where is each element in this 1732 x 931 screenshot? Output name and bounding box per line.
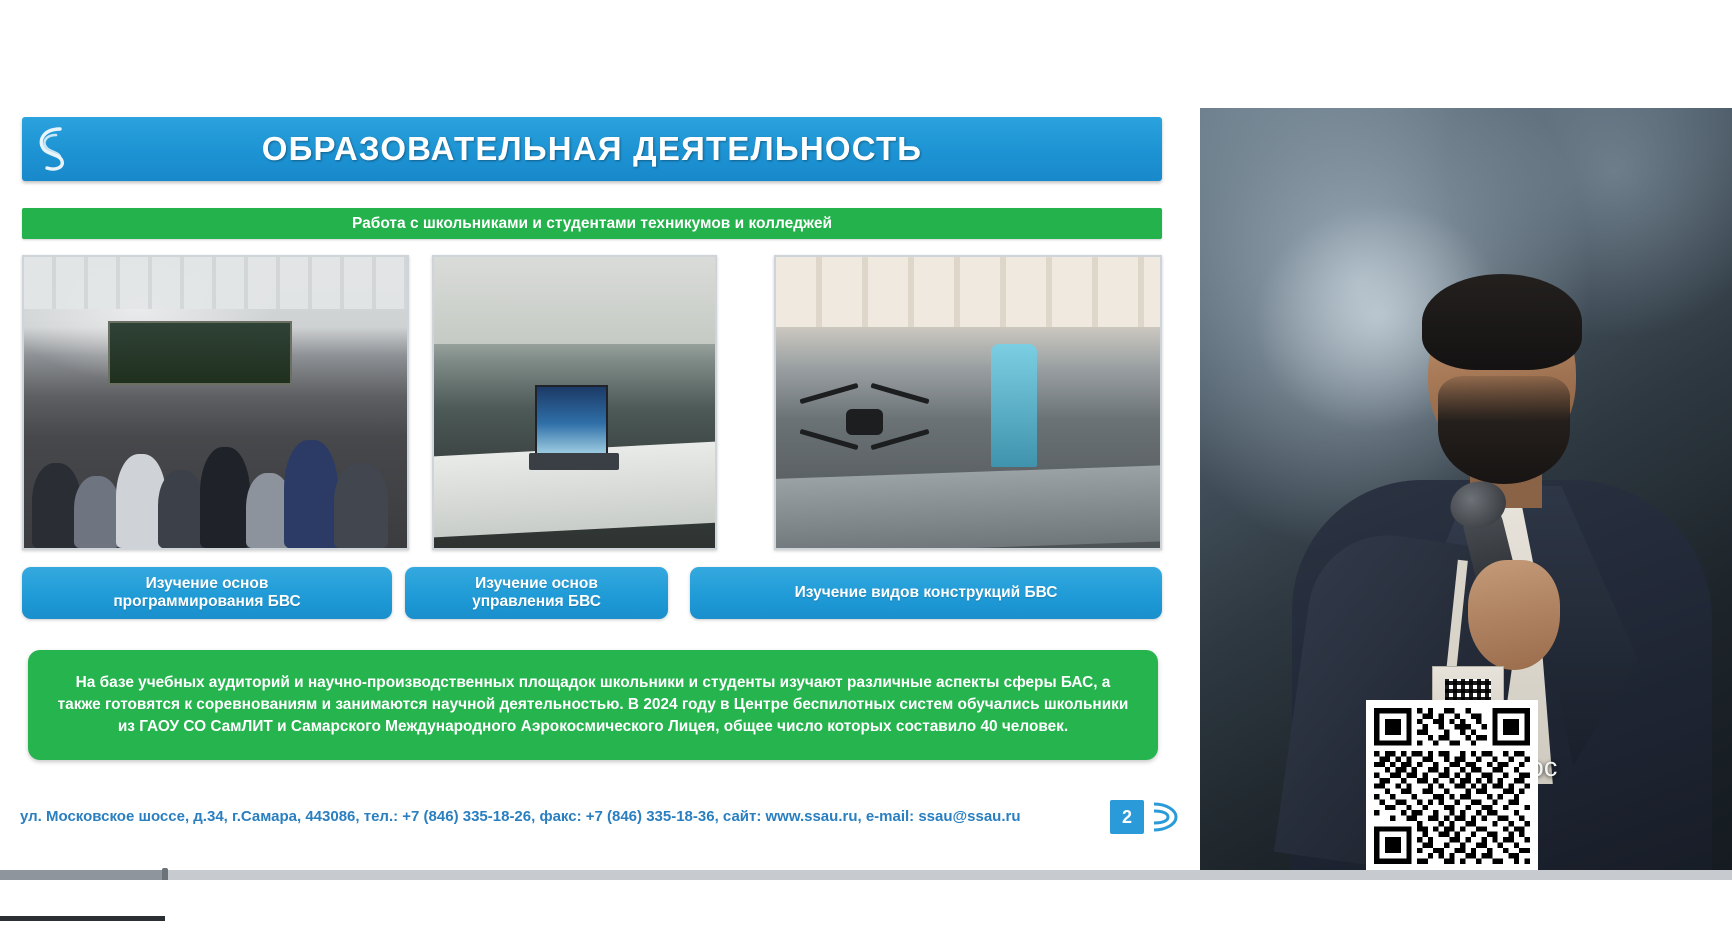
caption-text: Изучение видов конструкций БВС <box>795 584 1058 602</box>
caption-box-control: Изучение основ управления БВС <box>405 567 668 619</box>
photo-classroom-lecture <box>22 255 409 550</box>
slide-footer-contacts: ул. Московское шоссе, д.34, г.Самара, 44… <box>20 808 1021 825</box>
caption-text: Изучение основ программирования БВС <box>113 575 300 612</box>
ask-speaker-qr-code[interactable] <box>1366 700 1538 872</box>
photo-row <box>22 255 1162 550</box>
slide-subtitle: Работа с школьниками и студентами техник… <box>352 215 832 233</box>
photo-students-laptop-drone-controller <box>432 255 717 550</box>
speaker-beard <box>1438 376 1570 484</box>
screen-root: ОБРАЗОВАТЕЛЬНАЯ ДЕЯТЕЛЬНОСТЬ Работа с шк… <box>0 0 1732 931</box>
slide-body-text: На базе учебных аудиторий и научно-произ… <box>54 672 1132 739</box>
ssau-swirl-logo-icon <box>30 124 76 174</box>
speaker-hair <box>1422 274 1582 370</box>
drone-shape <box>799 373 930 472</box>
slide-body-box: На базе учебных аудиторий и научно-произ… <box>28 650 1158 760</box>
slide-title-bar: ОБРАЗОВАТЕЛЬНАЯ ДЕЯТЕЛЬНОСТЬ <box>22 117 1162 181</box>
ssau-swirl-icon <box>1148 800 1182 834</box>
slide-subtitle-bar: Работа с школьниками и студентами техник… <box>22 208 1162 239</box>
slide-page-number: 2 <box>1110 800 1144 834</box>
caption-box-programming: Изучение основ программирования БВС <box>22 567 392 619</box>
caption-text: Изучение основ управления БВС <box>472 575 601 612</box>
video-player-bar <box>0 870 1732 931</box>
player-controls-area <box>0 880 1732 931</box>
buffered-range <box>0 870 1732 880</box>
playback-progress-line <box>0 916 165 921</box>
speaker-hand <box>1468 560 1560 670</box>
presentation-slide: ОБРАЗОВАТЕЛЬНАЯ ДЕЯТЕЛЬНОСТЬ Работа с шк… <box>0 0 1195 870</box>
caption-box-construction: Изучение видов конструкций БВС <box>690 567 1162 619</box>
video-seek-track[interactable] <box>0 870 1732 880</box>
qr-code-icon <box>1374 708 1530 864</box>
played-range <box>0 870 165 880</box>
page-title: ОБРАЗОВАТЕЛЬНАЯ ДЕЯТЕЛЬНОСТЬ <box>262 130 922 168</box>
photo-drone-construction-lab <box>774 255 1162 550</box>
